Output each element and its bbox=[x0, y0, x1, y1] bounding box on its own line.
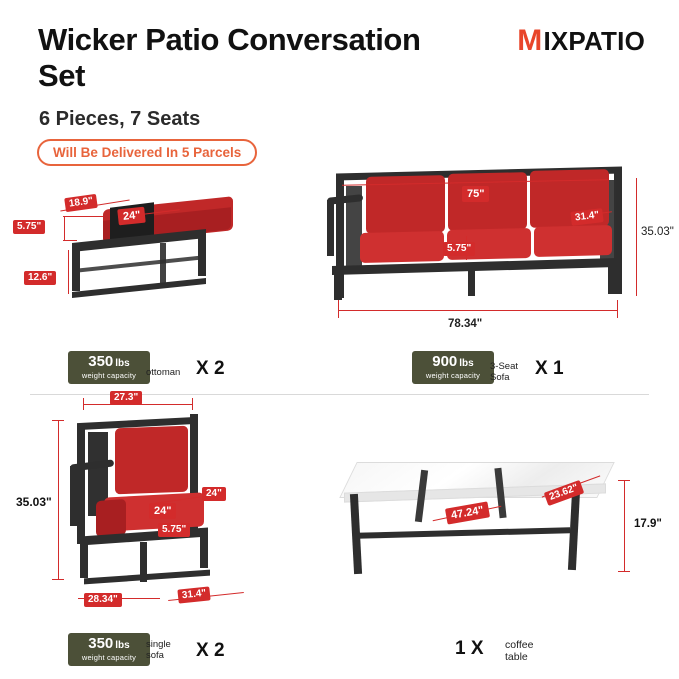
brand-logo: MIXPATIO bbox=[517, 24, 645, 58]
brand-logo-text: IXPATIO bbox=[543, 26, 645, 57]
sofa-dim-width: 78.34" bbox=[448, 318, 482, 330]
delivery-badge: Will Be Delivered In 5 Parcels bbox=[37, 139, 257, 166]
ottoman-frame-rail bbox=[78, 255, 202, 272]
ottoman-name: ottoman bbox=[146, 367, 180, 378]
sofa-arm-post bbox=[327, 200, 334, 256]
sofa-dim-cushion-width: 75" bbox=[462, 186, 489, 202]
chair-weight-badge: 350lbs weight capacity bbox=[68, 633, 150, 666]
chair-dim-height: 35.03" bbox=[16, 495, 52, 509]
chair-name: single sofa bbox=[146, 639, 171, 661]
chair-quantity: X 2 bbox=[196, 640, 225, 662]
ottoman-weight-value: 350 bbox=[88, 353, 113, 370]
ottoman-dim-frame-height: 12.6" bbox=[24, 271, 56, 285]
coffee-table-name: coffee table bbox=[505, 639, 533, 663]
ottoman-quantity: X 2 bbox=[196, 358, 225, 380]
chair-name-line1: single bbox=[146, 639, 171, 650]
ottoman-leg-back bbox=[160, 243, 166, 285]
sofa-seat-cushion-3 bbox=[534, 225, 612, 257]
chair-dim-seat-width: 24" bbox=[149, 503, 176, 519]
ottoman-weight-badge: 350lbs weight capacity bbox=[68, 351, 150, 384]
coffee-table-name-line1: coffee bbox=[505, 639, 533, 651]
chair-leg-left bbox=[80, 538, 88, 578]
coffee-table-stretcher bbox=[356, 527, 570, 539]
sofa-leg-center bbox=[468, 265, 475, 296]
chair-arm-cushion bbox=[96, 499, 126, 537]
chair-dim-depth: 31.4" bbox=[177, 586, 211, 603]
chair-weight-value: 350 bbox=[88, 635, 113, 652]
sofa-name-line1: 3-Seat bbox=[490, 361, 518, 372]
chair-dim-seat-depth: 24" bbox=[202, 487, 226, 501]
coffee-table-dim-height: 17.9" bbox=[634, 518, 662, 530]
sofa-weight-value: 900 bbox=[432, 353, 457, 370]
chair-name-line2: sofa bbox=[146, 650, 164, 661]
coffee-table-dim-length: 47.24" bbox=[445, 501, 490, 524]
ottoman-leg-right bbox=[198, 231, 206, 276]
sofa-name-line2: Sofa bbox=[490, 372, 510, 383]
ottoman-weight-unit: lbs bbox=[115, 358, 129, 369]
chair-weight-unit: lbs bbox=[115, 640, 129, 651]
brand-logo-initial: M bbox=[517, 24, 542, 58]
chair-arm-post bbox=[70, 466, 77, 526]
chair-weight-caption: weight capacity bbox=[75, 654, 143, 662]
sofa-leg-left bbox=[334, 268, 342, 300]
ottoman-dim-top-width: 18.9" bbox=[64, 194, 98, 212]
sofa-weight-badge: 900lbs weight capacity bbox=[412, 351, 494, 384]
chair-leg-right bbox=[200, 528, 208, 568]
coffee-table-quantity: 1 X bbox=[455, 638, 484, 660]
sofa-dim-cushion-height: 5.75" bbox=[443, 242, 475, 256]
page-title: Wicker Patio Conversation Set bbox=[38, 22, 438, 94]
chair-back-cushion bbox=[115, 426, 188, 495]
product-spec-sheet: Wicker Patio Conversation Set 6 Pieces, … bbox=[0, 0, 679, 679]
ottoman-frame-bottom bbox=[72, 278, 206, 298]
sofa-seat-cushion-1 bbox=[360, 231, 444, 263]
sofa-name: 3-Seat Sofa bbox=[490, 361, 518, 383]
ottoman-dim-cushion-height: 5.75" bbox=[13, 220, 45, 234]
chair-stretcher bbox=[84, 570, 210, 585]
sofa-weight-caption: weight capacity bbox=[419, 372, 487, 380]
chair-dim-top-width: 27.3" bbox=[110, 391, 142, 405]
sofa-dim-height: 35.03" bbox=[641, 226, 674, 238]
ottoman-weight-caption: weight capacity bbox=[75, 372, 143, 380]
chair-dim-cushion-height: 5.75" bbox=[158, 523, 190, 537]
chair-frame-left-post bbox=[77, 424, 85, 544]
sofa-leg-right bbox=[608, 262, 616, 294]
sofa-quantity: X 1 bbox=[535, 358, 564, 380]
coffee-table-name-line2: table bbox=[505, 651, 528, 663]
chair-dim-base-width: 28.34" bbox=[84, 593, 122, 607]
ottoman-dim-seat-width: 24" bbox=[117, 207, 146, 226]
page-subtitle: 6 Pieces, 7 Seats bbox=[39, 108, 200, 131]
sofa-weight-unit: lbs bbox=[459, 358, 473, 369]
